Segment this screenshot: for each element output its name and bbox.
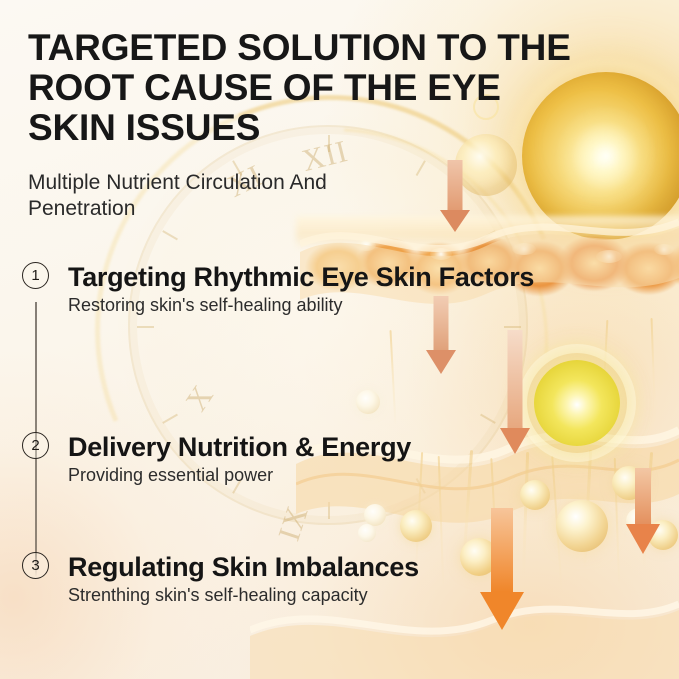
step-subtitle-3: Strenthing skin's self-healing capacity <box>68 584 662 607</box>
sphere-highlight <box>430 248 452 260</box>
step-subtitle-1: Restoring skin's self-healing ability <box>68 294 662 317</box>
clock-tick <box>162 230 178 240</box>
step-title-1: Targeting Rhythmic Eye Skin Factors <box>68 262 662 293</box>
step-number-badge-3: 3 <box>22 552 49 579</box>
sphere-highlight <box>512 243 536 255</box>
step-number-badge-2: 2 <box>22 432 49 459</box>
list-item: 3 Regulating Skin Imbalances Strenthing … <box>22 510 662 610</box>
steps-list: 1 Targeting Rhythmic Eye Skin Factors Re… <box>22 262 662 610</box>
page-subtitle: Multiple Nutrient Circulation And Penetr… <box>28 170 428 222</box>
page-title: TARGETED SOLUTION TO THE ROOT CAUSE OF T… <box>28 28 588 148</box>
arrow-down-1 <box>440 160 470 232</box>
sphere-highlight <box>654 244 674 255</box>
list-item: 1 Targeting Rhythmic Eye Skin Factors Re… <box>22 262 662 384</box>
step-subtitle-2: Providing essential power <box>68 464 662 487</box>
poster-canvas: XII XI X IX <box>0 0 679 679</box>
sphere-highlight <box>356 240 376 251</box>
clock-tick <box>480 230 496 240</box>
step-title-2: Delivery Nutrition & Energy <box>68 432 662 463</box>
step-number-badge-1: 1 <box>22 262 49 289</box>
step-title-3: Regulating Skin Imbalances <box>68 552 662 583</box>
list-item: 2 Delivery Nutrition & Energy Providing … <box>22 384 662 510</box>
